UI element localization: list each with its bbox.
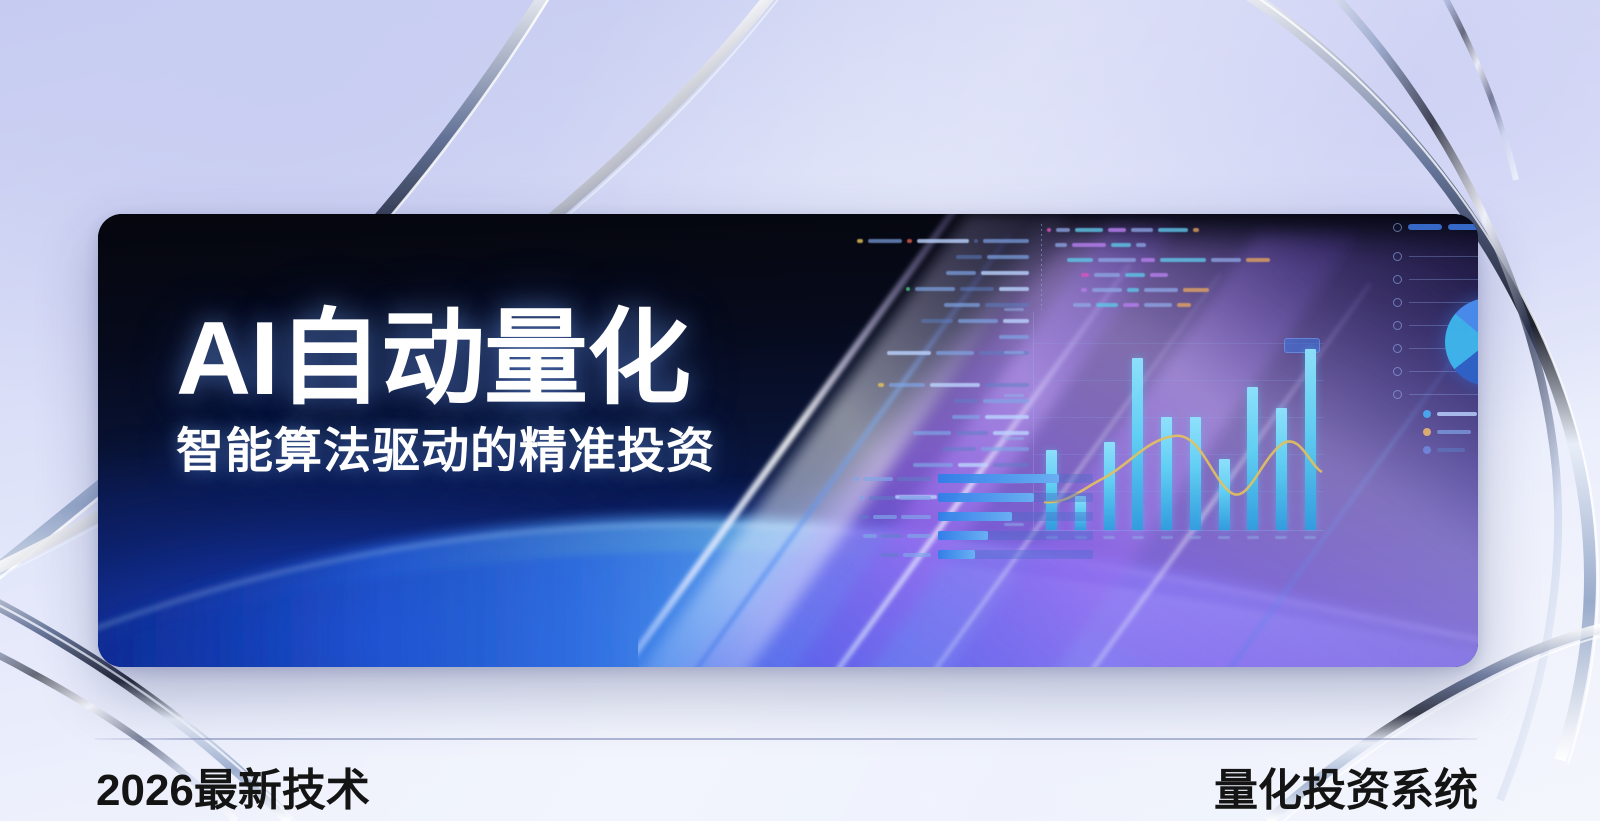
code-line xyxy=(1047,254,1312,265)
hbar-track xyxy=(938,531,1093,540)
legend-row xyxy=(1423,408,1477,419)
footer-tagline-right: 量化投资系统 xyxy=(1214,754,1478,818)
poster-canvas: AI自动量化 智能算法驱动的精准投资 2026最新技术 量化投资系统 xyxy=(0,0,1600,821)
hbar-row xyxy=(843,548,1093,561)
code-gutter xyxy=(1041,224,1042,310)
hbar-row xyxy=(843,472,1093,485)
hbar-track xyxy=(938,550,1093,559)
hbar-track xyxy=(938,512,1093,521)
hbar-row xyxy=(843,491,1093,504)
code-line xyxy=(1047,284,1312,295)
code-line xyxy=(1047,224,1312,235)
log-row xyxy=(833,250,1029,263)
log-row xyxy=(833,314,1029,327)
panel-row xyxy=(1393,250,1478,262)
log-row xyxy=(833,410,1029,423)
hbar-label xyxy=(843,477,931,481)
panel-toolbar xyxy=(1393,220,1478,234)
legend-row xyxy=(1423,444,1477,455)
footer-tagline-left: 2026最新技术 xyxy=(96,754,370,818)
hbar-track xyxy=(938,474,1093,483)
circle-icon xyxy=(1393,367,1402,376)
log-row xyxy=(833,442,1029,455)
legend-row xyxy=(1423,426,1477,437)
circle-icon xyxy=(1393,344,1402,353)
panel-row xyxy=(1393,388,1478,400)
hbar-track xyxy=(938,493,1093,502)
circle-icon xyxy=(1393,390,1402,399)
pie-legend xyxy=(1423,408,1477,462)
footer-divider xyxy=(95,738,1477,740)
hbar-row xyxy=(843,510,1093,523)
page-subtitle: 智能算法驱动的精准投资 xyxy=(176,426,715,479)
log-row xyxy=(833,330,1029,343)
headline-block: AI自动量化 智能算法驱动的精准投资 xyxy=(176,306,715,479)
log-row xyxy=(833,234,1029,247)
page-title: AI自动量化 xyxy=(176,306,715,412)
circle-icon xyxy=(1393,252,1402,261)
horizontal-bar-chart xyxy=(843,472,1093,567)
circle-icon xyxy=(1393,321,1402,330)
circle-icon xyxy=(1393,223,1402,232)
log-row xyxy=(833,378,1029,391)
panel-row xyxy=(1393,273,1478,285)
log-row xyxy=(833,282,1029,295)
code-line xyxy=(1047,239,1312,250)
log-row xyxy=(833,298,1029,311)
log-row xyxy=(833,426,1029,439)
code-line xyxy=(1047,299,1312,310)
hbar-row xyxy=(843,529,1093,542)
hbar-label xyxy=(843,496,931,500)
circle-icon xyxy=(1393,298,1402,307)
hero-card: AI自动量化 智能算法驱动的精准投资 xyxy=(98,214,1478,667)
hbar-label xyxy=(843,515,931,519)
hbar-label xyxy=(843,553,931,557)
hbar-label xyxy=(843,534,931,538)
log-row xyxy=(833,266,1029,279)
log-row xyxy=(833,458,1029,471)
circle-icon xyxy=(1393,275,1402,284)
code-line xyxy=(1047,269,1312,280)
log-row xyxy=(833,346,1029,359)
code-snippet-panel xyxy=(1047,224,1312,310)
log-text-column xyxy=(833,234,1029,464)
right-side-panel xyxy=(1393,220,1478,540)
dashboard-graphic xyxy=(833,220,1478,590)
log-row xyxy=(833,394,1029,407)
